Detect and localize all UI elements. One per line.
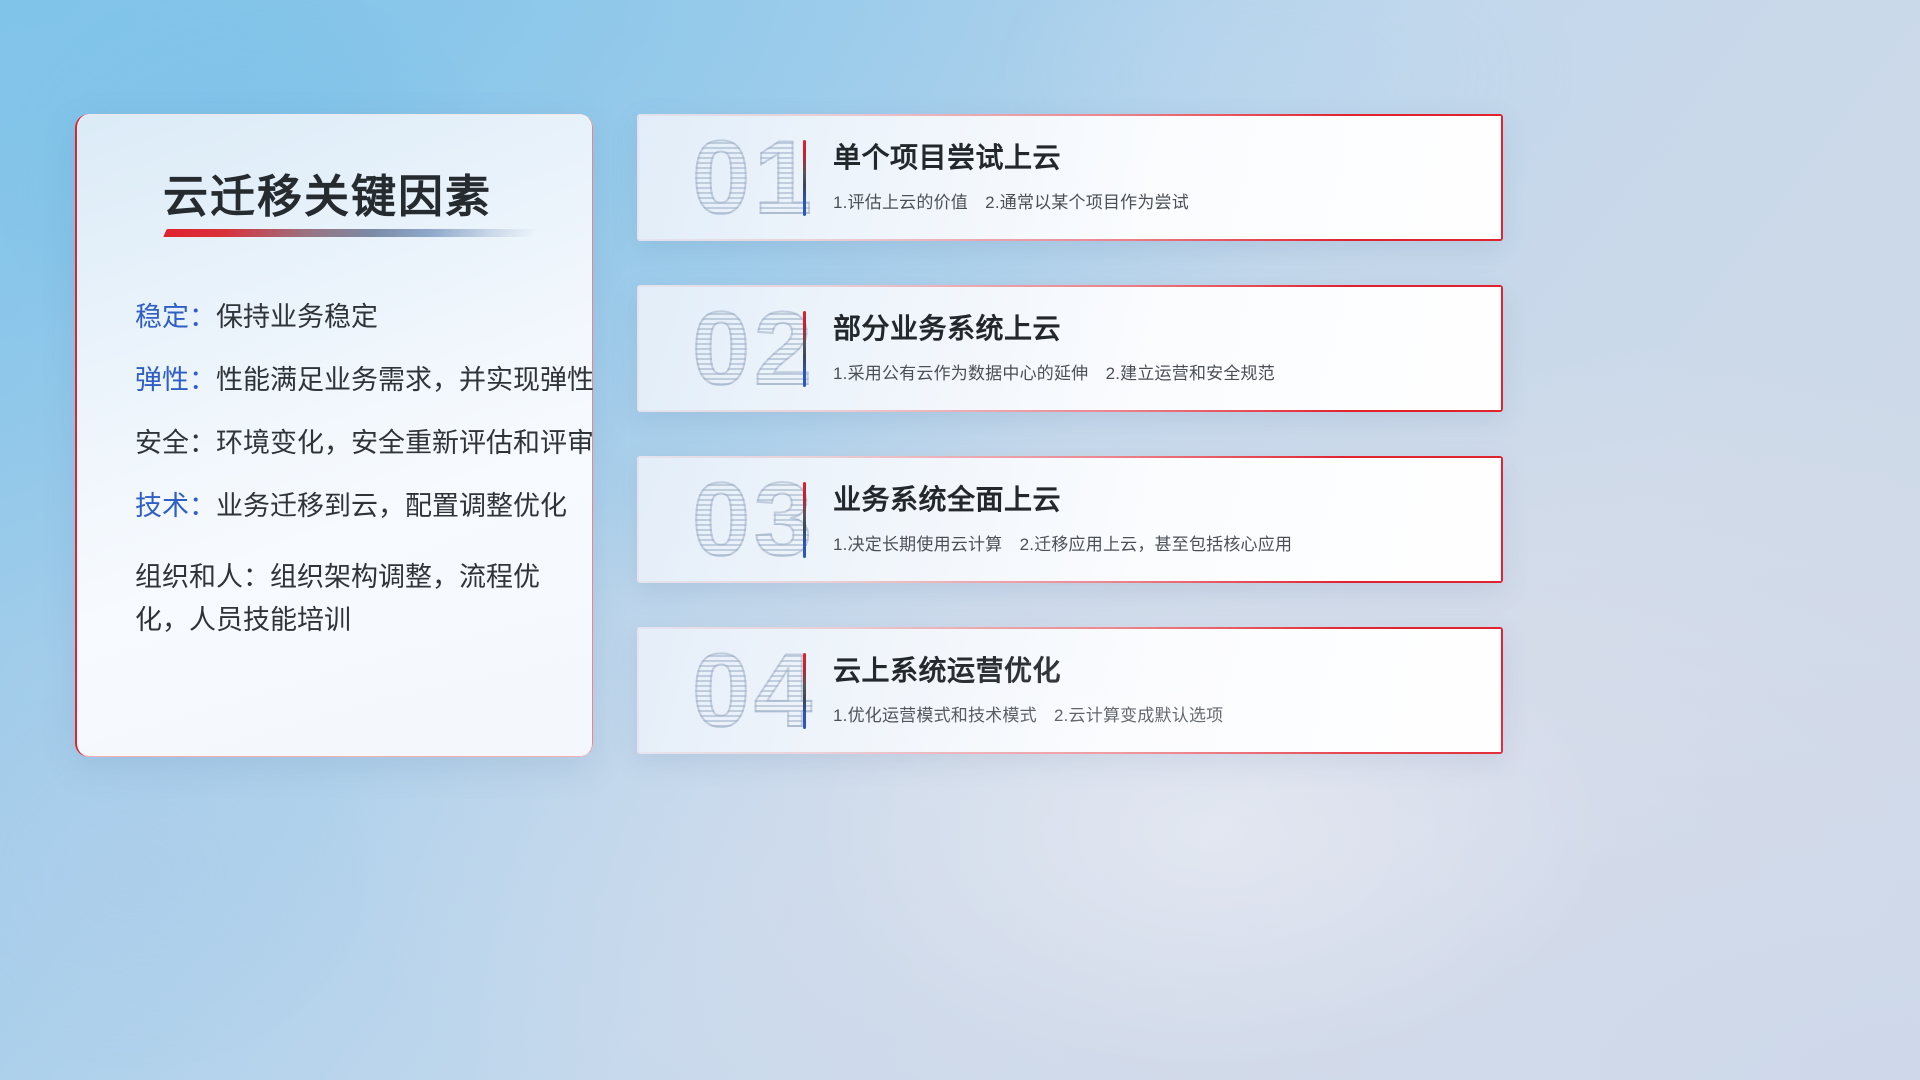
- stage-card-body: 云上系统运营优化 1.优化运营模式和技术模式 2.云计算变成默认选项: [833, 649, 1485, 726]
- stage-description: 1.采用公有云作为数据中心的延伸 2.建立运营和安全规范: [833, 359, 1485, 384]
- factor-label: 弹性：: [135, 365, 216, 395]
- stage-card-body: 业务系统全面上云 1.决定长期使用云计算 2.迁移应用上云，甚至包括核心应用: [833, 478, 1485, 555]
- factor-row: 安全：环境变化，安全重新评估和评审: [135, 430, 567, 457]
- stage-description: 1.决定长期使用云计算 2.迁移应用上云，甚至包括核心应用: [833, 530, 1485, 555]
- title-underline-rule: [163, 229, 537, 237]
- stage-description: 1.优化运营模式和技术模式 2.云计算变成默认选项: [833, 701, 1485, 726]
- stage-card-body: 部分业务系统上云 1.采用公有云作为数据中心的延伸 2.建立运营和安全规范: [833, 307, 1485, 384]
- factor-row: 组织和人：组织架构调整，流程优化，人员技能培训: [135, 556, 567, 641]
- key-factors-panel: 云迁移关键因素 稳定：保持业务稳定 弹性：性能满足业务需求，并实现弹性 安全：环…: [75, 114, 593, 757]
- stage-number: 02: [659, 293, 849, 405]
- panel-title: 云迁移关键因素: [163, 160, 492, 225]
- factor-row: 弹性：性能满足业务需求，并实现弹性: [135, 367, 567, 394]
- stage-accent-bar: [803, 311, 806, 387]
- stages-card-list: 01 单个项目尝试上云 1.评估上云的价值 2.通常以某个项目作为尝试 02 部…: [637, 114, 1503, 798]
- stage-card[interactable]: 02 部分业务系统上云 1.采用公有云作为数据中心的延伸 2.建立运营和安全规范: [637, 285, 1503, 412]
- stage-accent-bar: [803, 140, 806, 216]
- stage-number: 01: [659, 122, 849, 234]
- stage-title: 部分业务系统上云: [833, 307, 1485, 347]
- factors-list: 稳定：保持业务稳定 弹性：性能满足业务需求，并实现弹性 安全：环境变化，安全重新…: [135, 304, 567, 677]
- stage-description: 1.评估上云的价值 2.通常以某个项目作为尝试: [833, 188, 1485, 213]
- factor-label: 稳定：: [135, 302, 216, 332]
- factor-label: 技术：: [135, 491, 216, 521]
- stage-title: 单个项目尝试上云: [833, 136, 1485, 176]
- factor-label: 安全：: [135, 428, 216, 458]
- slide-canvas: 云迁移关键因素 稳定：保持业务稳定 弹性：性能满足业务需求，并实现弹性 安全：环…: [0, 0, 1920, 1080]
- factor-value: 保持业务稳定: [216, 302, 378, 332]
- stage-card[interactable]: 01 单个项目尝试上云 1.评估上云的价值 2.通常以某个项目作为尝试: [637, 114, 1503, 241]
- stage-accent-bar: [803, 482, 806, 558]
- stage-number: 03: [659, 464, 849, 576]
- factor-value: 性能满足业务需求，并实现弹性: [216, 365, 593, 395]
- stage-card-body: 单个项目尝试上云 1.评估上云的价值 2.通常以某个项目作为尝试: [833, 136, 1485, 213]
- factor-value: 环境变化，安全重新评估和评审: [216, 428, 593, 458]
- stage-title: 云上系统运营优化: [833, 649, 1485, 689]
- stage-number: 04: [659, 635, 849, 747]
- factor-row: 技术：业务迁移到云，配置调整优化: [135, 493, 567, 520]
- factor-value: 业务迁移到云，配置调整优化: [216, 491, 567, 521]
- stage-title: 业务系统全面上云: [833, 478, 1485, 518]
- factor-label: 组织和人：: [135, 562, 270, 592]
- stage-card[interactable]: 03 业务系统全面上云 1.决定长期使用云计算 2.迁移应用上云，甚至包括核心应…: [637, 456, 1503, 583]
- factor-row: 稳定：保持业务稳定: [135, 304, 567, 331]
- stage-accent-bar: [803, 653, 806, 729]
- stage-card[interactable]: 04 云上系统运营优化 1.优化运营模式和技术模式 2.云计算变成默认选项: [637, 627, 1503, 754]
